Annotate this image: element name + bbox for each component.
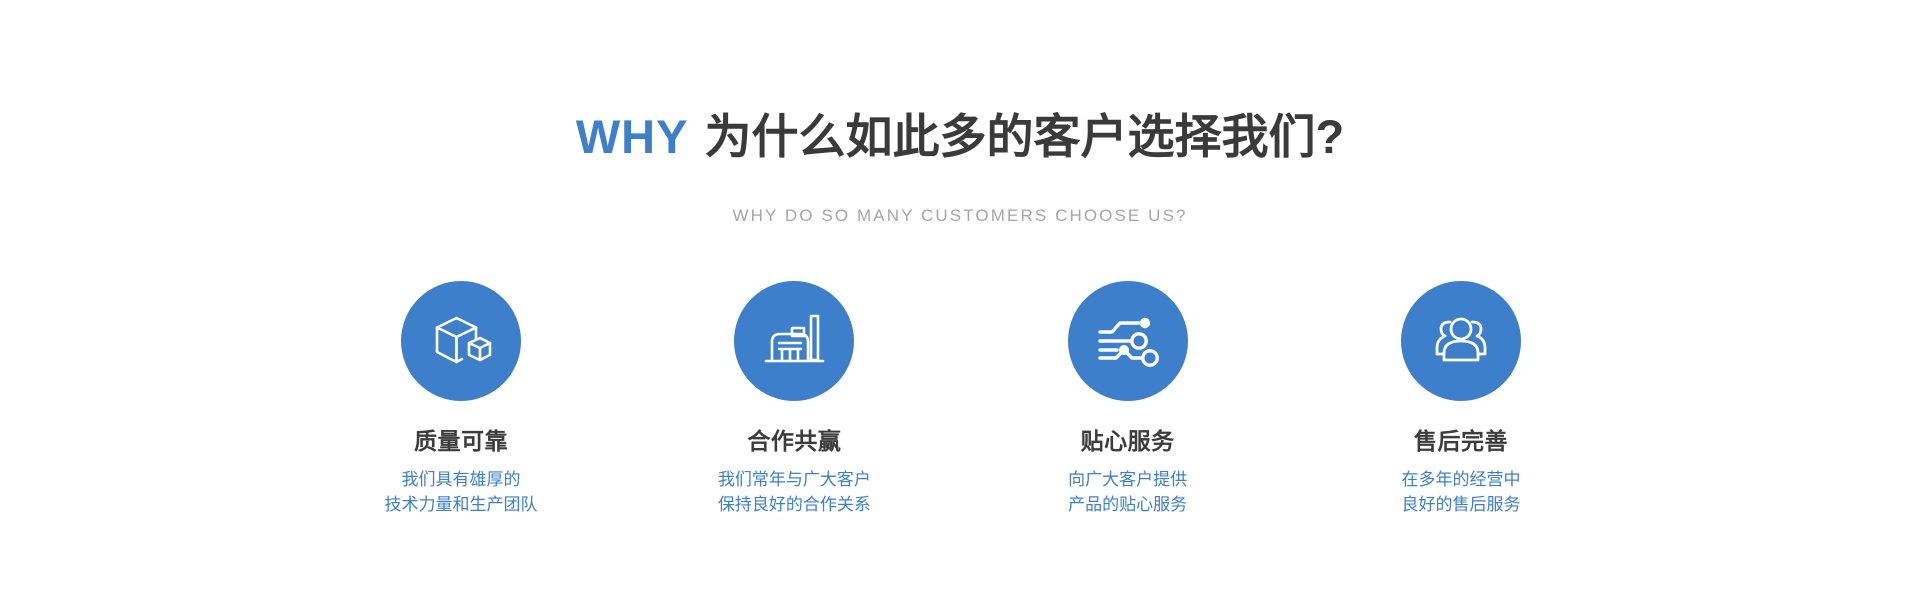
page-subtitle: WHY DO SO MANY CUSTOMERS CHOOSE US? [0, 204, 1920, 228]
feature-desc-line-2: 保持良好的合作关系 [718, 492, 871, 517]
feature-title: 合作共赢 [747, 426, 841, 456]
factory-icon [734, 281, 854, 401]
feature-item-after-sales[interactable]: 售后完善 在多年的经营中 良好的售后服务 [1311, 281, 1611, 517]
package-box-icon [401, 281, 521, 401]
why-choose-us-section: WHY为什么如此多的客户选择我们? WHY DO SO MANY CUSTOME… [0, 0, 1920, 615]
heading-block: WHY为什么如此多的客户选择我们? WHY DO SO MANY CUSTOME… [0, 70, 1920, 245]
feature-description: 向广大客户提供 产品的贴心服务 [1068, 467, 1187, 517]
feature-item-cooperation[interactable]: 合作共赢 我们常年与广大客户 保持良好的合作关系 [644, 281, 944, 517]
feature-desc-line-2: 产品的贴心服务 [1068, 492, 1187, 517]
users-group-icon [1401, 281, 1521, 401]
title-chinese: 为什么如此多的客户选择我们? [704, 110, 1344, 163]
feature-desc-line-1: 在多年的经营中 [1401, 467, 1520, 492]
feature-desc-line-2: 良好的售后服务 [1401, 492, 1520, 517]
feature-list: 质量可靠 我们具有雄厚的 技术力量和生产团队 [311, 281, 1611, 517]
feature-desc-line-1: 向广大客户提供 [1068, 467, 1187, 492]
feature-title: 售后完善 [1414, 426, 1508, 456]
feature-description: 在多年的经营中 良好的售后服务 [1401, 467, 1520, 517]
feature-item-quality[interactable]: 质量可靠 我们具有雄厚的 技术力量和生产团队 [311, 281, 611, 517]
title-keyword-why: WHY [576, 110, 689, 163]
feature-description: 我们具有雄厚的 技术力量和生产团队 [385, 467, 538, 517]
feature-desc-line-1: 我们常年与广大客户 [718, 467, 871, 492]
feature-desc-line-2: 技术力量和生产团队 [385, 492, 538, 517]
feature-desc-line-1: 我们具有雄厚的 [385, 467, 538, 492]
circuit-nodes-icon [1068, 281, 1188, 401]
feature-description: 我们常年与广大客户 保持良好的合作关系 [718, 467, 871, 517]
page-title: WHY为什么如此多的客户选择我们? [0, 109, 1920, 165]
feature-title: 质量可靠 [414, 426, 508, 456]
feature-item-service[interactable]: 贴心服务 向广大客户提供 产品的贴心服务 [978, 281, 1278, 517]
feature-title: 贴心服务 [1081, 426, 1175, 456]
